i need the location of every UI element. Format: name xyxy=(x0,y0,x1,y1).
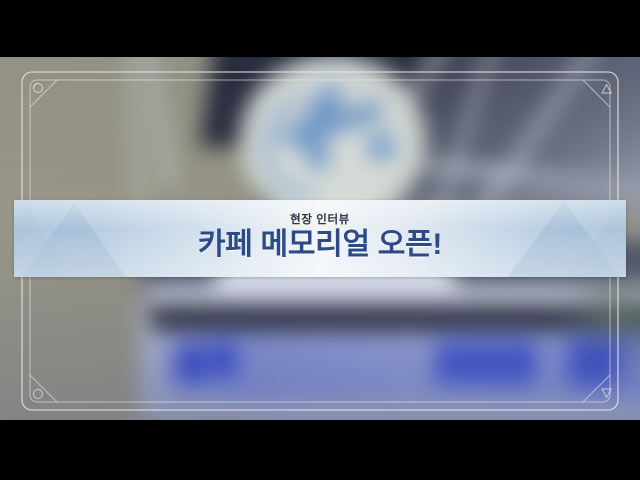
blue-signage xyxy=(490,345,507,381)
video-background: 현장 인터뷰 카페 메모리얼 오픈! xyxy=(0,57,640,420)
blue-signage xyxy=(515,345,532,381)
blue-signage xyxy=(178,347,204,381)
letterbox-bar-top xyxy=(0,0,640,57)
signage-glow xyxy=(130,332,640,402)
lower-third-banner: 현장 인터뷰 카페 메모리얼 오픈! xyxy=(14,200,626,277)
blue-signage xyxy=(212,345,234,375)
blue-signage xyxy=(570,343,616,383)
banner-subtitle: 현장 인터뷰 xyxy=(290,215,350,227)
airplane-icon-tail xyxy=(365,131,396,163)
banner-title: 카페 메모리얼 오픈! xyxy=(198,228,442,262)
banner-text-group: 현장 인터뷰 카페 메모리얼 오픈! xyxy=(14,200,626,277)
blue-signage xyxy=(440,345,457,381)
blue-signage xyxy=(465,345,482,381)
letterbox-bar-bottom xyxy=(0,420,640,480)
video-frame: 현장 인터뷰 카페 메모리얼 오픈! xyxy=(0,0,640,480)
